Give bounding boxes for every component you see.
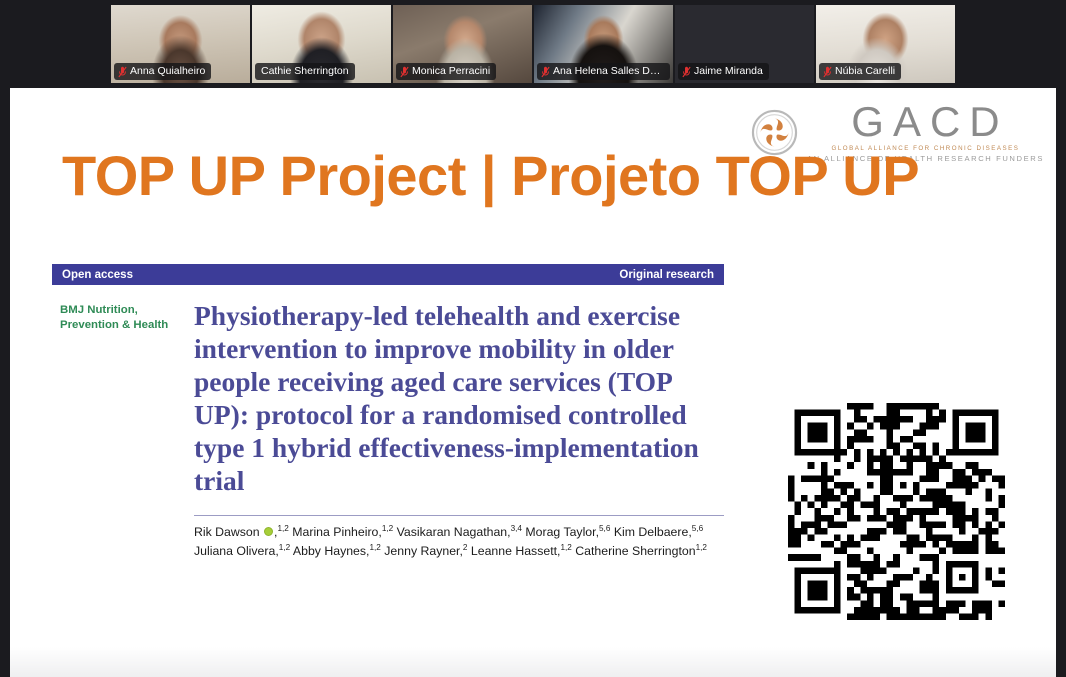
- author-list: Rik Dawson ,1,2 Marina Pinheiro,1,2 Vasi…: [194, 523, 724, 560]
- author-affiliation: 3,4: [511, 524, 522, 533]
- participant-name: Jaime Miranda: [694, 63, 763, 80]
- participant-name: Monica Perracini: [412, 63, 490, 80]
- participant-tile-anna-quialheiro[interactable]: Anna Quialheiro: [111, 5, 250, 83]
- participant-name: Ana Helena Salles Do...: [553, 63, 664, 80]
- author-affiliation: 1,2: [279, 543, 290, 552]
- author-entry: Morag Taylor,5,6: [525, 525, 610, 539]
- author-name: Abby Haynes: [293, 544, 366, 558]
- author-affiliation: 5,6: [599, 524, 610, 533]
- paper-main-column: Physiotherapy-led telehealth and exercis…: [194, 299, 724, 560]
- participant-name-badge: Cathie Sherrington: [255, 63, 355, 80]
- author-entry: Abby Haynes,1,2: [293, 544, 381, 558]
- author-affiliation: 1,2: [369, 543, 380, 552]
- author-name: Jenny Rayner: [384, 544, 459, 558]
- mic-muted-icon: [682, 66, 691, 78]
- author-name: Leanne Hassett: [471, 544, 557, 558]
- participant-name-badge: Núbia Carelli: [819, 63, 901, 80]
- qr-code[interactable]: [788, 400, 1005, 623]
- author-name: Juliana Olivera: [194, 544, 275, 558]
- author-affiliation: 1,2: [277, 524, 288, 533]
- participant-tile-monica-perracini[interactable]: Monica Perracini: [393, 5, 532, 83]
- paper-body: BMJ Nutrition, Prevention & Health Physi…: [52, 299, 724, 560]
- paper-header-bar: Open access Original research: [52, 264, 724, 285]
- zoom-meeting-window: Anna Quialheiro Cathie Sherrington Monic…: [0, 0, 1066, 677]
- participant-name: Cathie Sherrington: [261, 63, 349, 80]
- participant-filmstrip: Anna Quialheiro Cathie Sherrington Monic…: [0, 0, 1066, 88]
- participant-tile-cathie-sherrington[interactable]: Cathie Sherrington: [252, 5, 391, 83]
- authors-divider: [194, 515, 724, 516]
- participant-name: Anna Quialheiro: [130, 63, 205, 80]
- participant-name-badge: Ana Helena Salles Do...: [537, 63, 670, 80]
- author-entry: Kim Delbaere,5,6: [614, 525, 703, 539]
- slide-heading: TOP UP Project | Projeto TOP UP: [62, 143, 919, 208]
- author-entry: Leanne Hassett,1,2: [471, 544, 572, 558]
- author-name: Catherine Sherrington: [575, 544, 695, 558]
- orcid-icon[interactable]: [264, 527, 273, 536]
- gacd-wordmark: GACD: [842, 102, 1008, 142]
- author-affiliation: 1,2: [696, 543, 707, 552]
- author-entry: Marina Pinheiro,1,2: [292, 525, 393, 539]
- author-affiliation: 2: [463, 543, 468, 552]
- participant-name-badge: Monica Perracini: [396, 63, 496, 80]
- participant-tile-jaime-miranda[interactable]: Jaime Miranda: [675, 5, 814, 83]
- author-affiliation: 1,2: [560, 543, 571, 552]
- author-entry: Rik Dawson ,1,2: [194, 525, 289, 539]
- participant-tile-nubia-carelli[interactable]: Núbia Carelli: [816, 5, 955, 83]
- journal-name: BMJ Nutrition, Prevention & Health: [52, 299, 194, 560]
- article-type-label: Original research: [619, 269, 714, 281]
- paper-title: Physiotherapy-led telehealth and exercis…: [194, 299, 724, 497]
- author-name: Vasikaran Nagathan: [397, 525, 508, 539]
- author-name: Marina Pinheiro: [292, 525, 378, 539]
- paper-preview: Open access Original research BMJ Nutrit…: [52, 264, 724, 560]
- mic-muted-icon: [823, 66, 832, 78]
- participant-name: Núbia Carelli: [835, 63, 895, 80]
- mic-muted-icon: [541, 66, 550, 78]
- author-name: Kim Delbaere: [614, 525, 689, 539]
- author-entry: Vasikaran Nagathan,3,4: [397, 525, 522, 539]
- participant-name-badge: Jaime Miranda: [678, 63, 769, 80]
- author-affiliation: 5,6: [692, 524, 703, 533]
- author-name: Rik Dawson: [194, 525, 260, 539]
- qr-code-image: [788, 400, 1005, 623]
- open-access-label: Open access: [62, 269, 133, 281]
- mic-muted-icon: [400, 66, 409, 78]
- author-entry: Jenny Rayner,2: [384, 544, 467, 558]
- mic-muted-icon: [118, 66, 127, 78]
- author-entry: Catherine Sherrington1,2: [575, 544, 707, 558]
- participant-name-badge: Anna Quialheiro: [114, 63, 211, 80]
- shared-slide: GACD GLOBAL ALLIANCE FOR CHRONIC DISEASE…: [10, 88, 1056, 677]
- author-name: Morag Taylor: [525, 525, 595, 539]
- participant-tile-ana-helena-salles[interactable]: Ana Helena Salles Do...: [534, 5, 673, 83]
- author-affiliation: 1,2: [382, 524, 393, 533]
- author-entry: Juliana Olivera,1,2: [194, 544, 290, 558]
